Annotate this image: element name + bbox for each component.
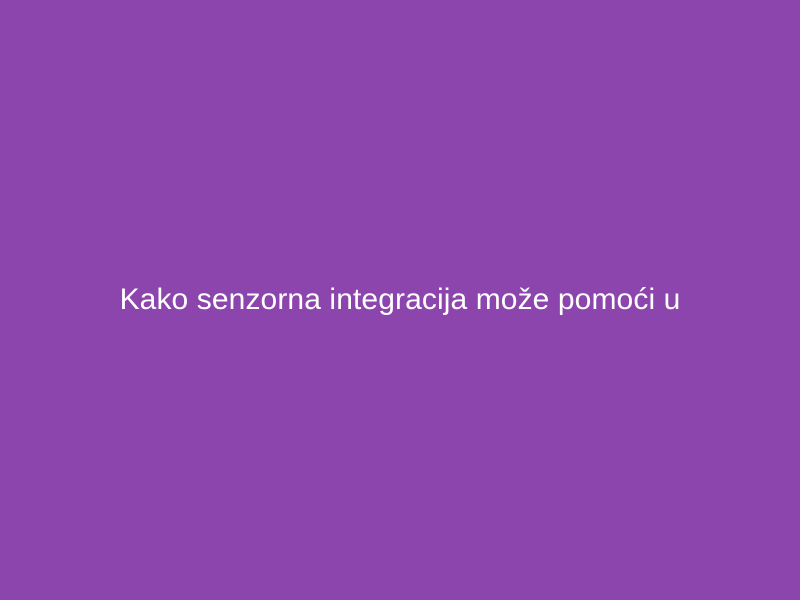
- banner-content: Kako senzorna integracija može pomoći u: [72, 281, 728, 319]
- share-image-banner: Kako senzorna integracija može pomoći u: [0, 0, 800, 600]
- banner-title: Kako senzorna integracija može pomoći u: [72, 281, 728, 319]
